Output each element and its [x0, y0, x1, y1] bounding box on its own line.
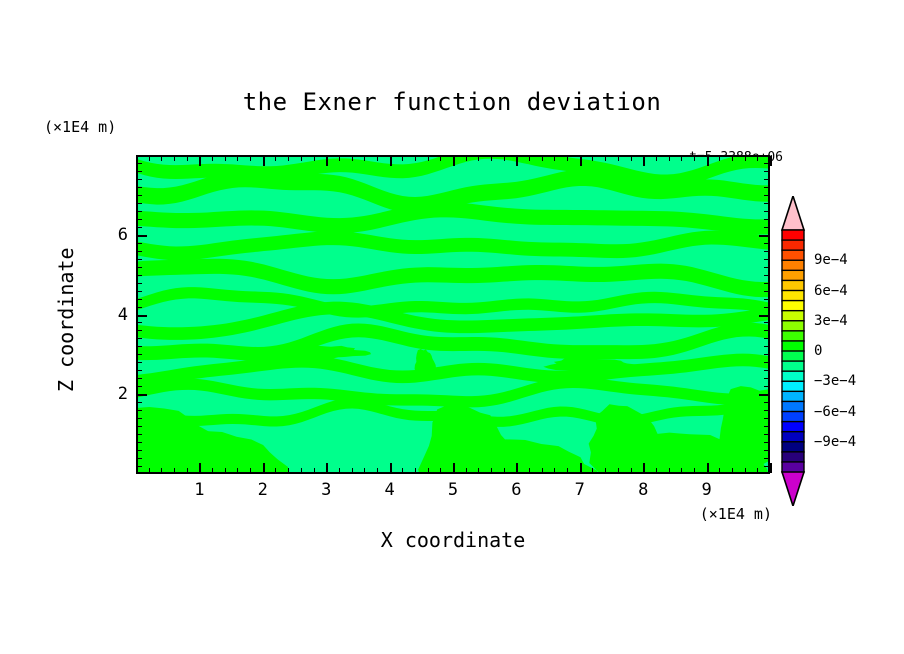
- colorbar[interactable]: [778, 196, 808, 506]
- colorbar-band: [782, 452, 804, 462]
- colorbar-band: [782, 371, 804, 381]
- x-tick-label: 6: [511, 480, 521, 500]
- contour-field: [138, 157, 768, 472]
- colorbar-band: [782, 291, 804, 301]
- colorbar-band: [782, 230, 804, 240]
- colorbar-band: [782, 280, 804, 290]
- colorbar-band: [782, 412, 804, 422]
- x-tick-label: 4: [384, 480, 394, 500]
- chart-title: the Exner function deviation: [0, 88, 904, 116]
- colorbar-svg: [778, 196, 808, 506]
- colorbar-band: [782, 260, 804, 270]
- x-tick-label: 3: [321, 480, 331, 500]
- axis-tick: [770, 463, 772, 473]
- colorbar-tick-label: 9e−4: [814, 252, 848, 268]
- colorbar-band: [782, 270, 804, 280]
- colorbar-band: [782, 432, 804, 442]
- colorbar-tick-label: −9e−4: [814, 434, 856, 450]
- y-axis-title: Z coordinate: [52, 210, 80, 430]
- y-tick-label: 6: [118, 225, 128, 245]
- colorbar-band: [782, 361, 804, 371]
- contour-plot-area[interactable]: [136, 155, 770, 474]
- colorbar-tick-label: 3e−4: [814, 313, 848, 329]
- colorbar-band: [782, 311, 804, 321]
- y-tick-label: 4: [118, 305, 128, 325]
- colorbar-band: [782, 401, 804, 411]
- colorbar-band: [782, 321, 804, 331]
- colorbar-tick-label: −6e−4: [814, 404, 856, 420]
- colorbar-over-arrow: [782, 196, 804, 230]
- colorbar-band: [782, 442, 804, 452]
- colorbar-band: [782, 250, 804, 260]
- x-tick-label: 2: [258, 480, 268, 500]
- colorbar-band: [782, 301, 804, 311]
- x-tick-label: 1: [194, 480, 204, 500]
- colorbar-band: [782, 462, 804, 472]
- colorbar-under-arrow: [782, 472, 804, 506]
- x-tick-label: 7: [575, 480, 585, 500]
- y-tick-label: 2: [118, 384, 128, 404]
- x-tick-label: 9: [701, 480, 711, 500]
- colorbar-band: [782, 331, 804, 341]
- colorbar-band: [782, 351, 804, 361]
- colorbar-tick-label: 6e−4: [814, 283, 848, 299]
- x-axis-title: X coordinate: [136, 528, 770, 552]
- colorbar-band: [782, 341, 804, 351]
- colorbar-tick-label: 0: [814, 343, 822, 359]
- y-axis-unit-label: (×1E4 m): [44, 118, 116, 136]
- colorbar-band: [782, 240, 804, 250]
- x-tick-label: 8: [638, 480, 648, 500]
- colorbar-band: [782, 391, 804, 401]
- colorbar-band: [782, 422, 804, 432]
- x-axis-unit-label: (×1E4 m): [700, 505, 772, 523]
- colorbar-tick-label: −3e−4: [814, 373, 856, 389]
- colorbar-band: [782, 381, 804, 391]
- x-tick-label: 5: [448, 480, 458, 500]
